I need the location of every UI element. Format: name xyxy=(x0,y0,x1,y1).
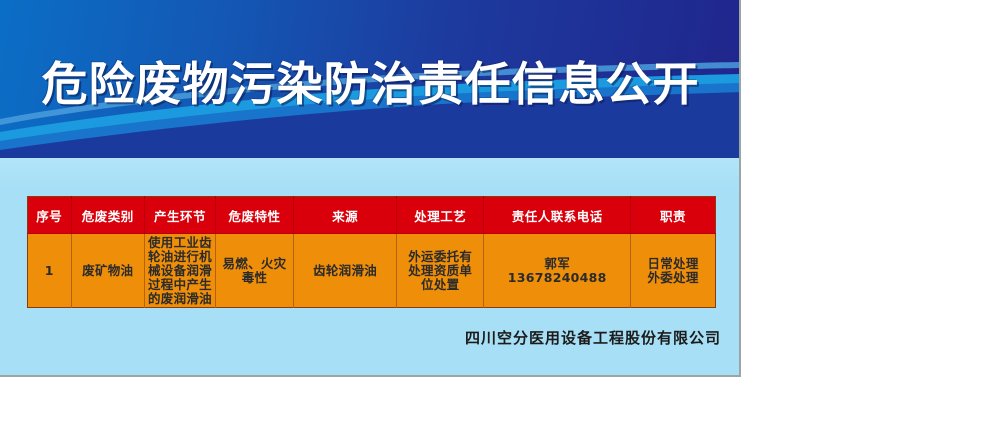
cell-hazard-line: 易燃、火灾 xyxy=(219,257,290,271)
cell-category: 废矿物油 xyxy=(71,234,144,308)
cell-duty-line: 外委处理 xyxy=(634,271,712,285)
cell-duty: 日常处理 外委处理 xyxy=(631,234,716,308)
cell-stage: 使用工业齿 轮油进行机 械设备润滑 过程中产生 的废润滑油 xyxy=(144,234,215,308)
cell-stage-line: 的废润滑油 xyxy=(148,292,212,306)
header-banner: 危险废物污染防治责任信息公开 xyxy=(0,0,741,158)
column-header-hazard: 危废特性 xyxy=(216,197,294,234)
contact-phone-number: 13678240488 xyxy=(487,271,627,285)
cell-hazard: 易燃、火灾 毒性 xyxy=(216,234,294,308)
cell-process-line: 外运委托有 xyxy=(400,250,480,264)
company-name: 四川空分医用设备工程股份有限公司 xyxy=(0,327,721,348)
hazardous-waste-table-container: 序号 危废类别 产生环节 危废特性 来源 处理工艺 责任人联系电话 职责 1 废… xyxy=(27,196,716,308)
column-header-seq: 序号 xyxy=(28,197,72,234)
column-header-source: 来源 xyxy=(293,197,396,234)
cell-duty-line: 日常处理 xyxy=(634,257,712,271)
page-title: 危险废物污染防治责任信息公开 xyxy=(0,48,741,114)
column-header-duty: 职责 xyxy=(631,197,716,234)
table-row: 1 废矿物油 使用工业齿 轮油进行机 械设备润滑 过程中产生 的废润滑油 易燃、… xyxy=(28,234,716,308)
cell-stage-line: 过程中产生 xyxy=(148,278,212,292)
cell-seq: 1 xyxy=(28,234,72,308)
contact-person-name: 郭军 xyxy=(487,257,627,271)
cell-process-line: 处理资质单 xyxy=(400,264,480,278)
column-header-stage: 产生环节 xyxy=(144,197,215,234)
cell-hazard-line: 毒性 xyxy=(219,271,290,285)
information-disclosure-poster: 危险废物污染防治责任信息公开 序号 危废类别 产生环节 危废特性 xyxy=(0,0,741,377)
column-header-category: 危废类别 xyxy=(71,197,144,234)
table-header-row: 序号 危废类别 产生环节 危废特性 来源 处理工艺 责任人联系电话 职责 xyxy=(28,197,716,234)
cell-contact: 郭军 13678240488 xyxy=(484,234,631,308)
cell-stage-line: 械设备润滑 xyxy=(148,264,212,278)
cell-process: 外运委托有 处理资质单 位处置 xyxy=(397,234,484,308)
cell-process-line: 位处置 xyxy=(400,278,480,292)
column-header-process: 处理工艺 xyxy=(397,197,484,234)
cell-stage-line: 轮油进行机 xyxy=(148,250,212,264)
column-header-contact: 责任人联系电话 xyxy=(484,197,631,234)
cell-stage-line: 使用工业齿 xyxy=(148,236,212,250)
hazardous-waste-table: 序号 危废类别 产生环节 危废特性 来源 处理工艺 责任人联系电话 职责 1 废… xyxy=(27,196,716,308)
cell-source: 齿轮润滑油 xyxy=(293,234,396,308)
